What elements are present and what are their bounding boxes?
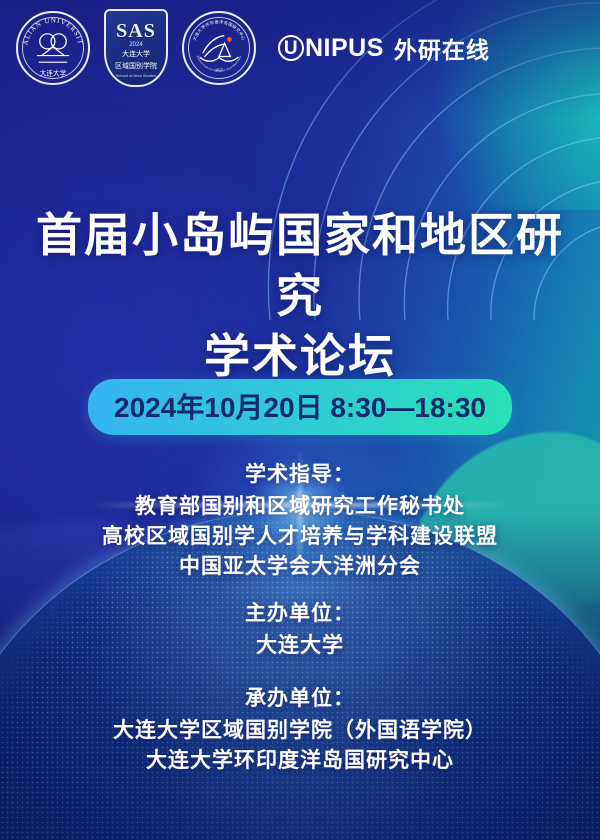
organizer-item: 大连大学环印度洋岛国研究中心	[0, 745, 600, 775]
academic-guidance-item: 中国亚太学会大洋洲分会	[0, 551, 600, 581]
academic-guidance-block: 学术指导： 教育部国别和区域研究工作秘书处 高校区域国别学人才培养与学科建设联盟…	[0, 459, 600, 582]
organizer-label: 承办单位：	[0, 683, 600, 715]
host-item: 大连大学	[0, 630, 600, 660]
academic-guidance-item: 高校区域国别学人才培养与学科建设联盟	[0, 521, 600, 551]
page-title: 首届小岛屿国家和地区研究 学术论坛	[0, 206, 600, 388]
poster-content: 首届小岛屿国家和地区研究 学术论坛 2024年10月20日 8:30—18:30…	[0, 0, 600, 840]
title-line-1: 首届小岛屿国家和地区研究	[14, 206, 586, 327]
poster-canvas: DALIAN UNIVERSITY 大连大学 SAS 2024 大连大学 区域	[0, 0, 600, 840]
date-badge: 2024年10月20日 8:30—18:30	[88, 379, 512, 435]
host-label: 主办单位：	[0, 598, 600, 630]
academic-guidance-item: 教育部国别和区域研究工作秘书处	[0, 491, 600, 521]
host-block: 主办单位： 大连大学	[0, 598, 600, 660]
organizer-item: 大连大学区域国别学院（外国语学院）	[0, 715, 600, 745]
academic-guidance-label: 学术指导：	[0, 459, 600, 491]
organizer-block: 承办单位： 大连大学区域国别学院（外国语学院） 大连大学环印度洋岛国研究中心	[0, 683, 600, 775]
